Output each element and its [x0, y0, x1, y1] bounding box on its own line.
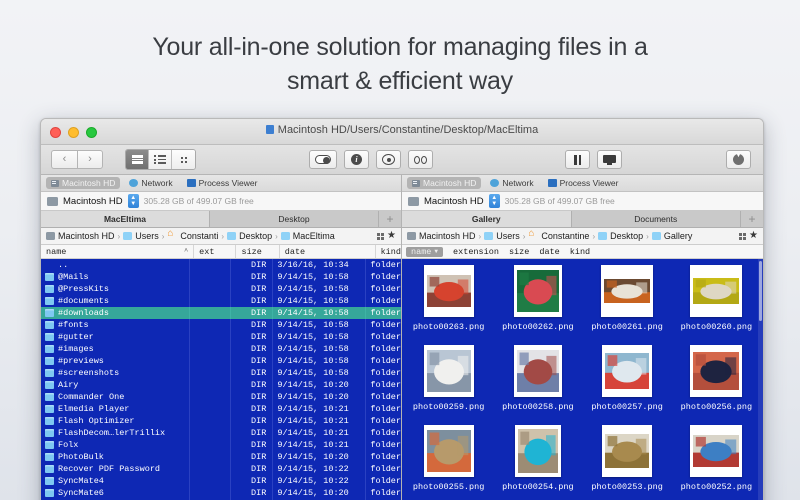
process-viewer-icon [187, 179, 196, 187]
cell-date: 9/14/15, 10:21 [273, 439, 366, 451]
cell-name: .. [41, 259, 190, 271]
file-name: Elmedia Player [58, 404, 129, 414]
column-header-extension[interactable]: extension [453, 247, 499, 257]
folder-icon [281, 232, 290, 240]
cell-kind: folder [366, 295, 401, 307]
cell-ext [190, 307, 231, 319]
file-name: #downloads [58, 308, 109, 318]
column-header-name-label: name [46, 247, 66, 257]
cell-kind: folder [366, 427, 401, 439]
sort-arrow-icon: ^ [184, 248, 188, 256]
downloads-button[interactable] [726, 150, 751, 169]
folder-icon [484, 232, 493, 240]
right-crumb-2[interactable]: Constantine [528, 231, 589, 241]
right-source-network[interactable]: Network [485, 177, 538, 189]
cell-date: 9/14/15, 10:22 [273, 463, 366, 475]
cell-size: DIR [231, 487, 274, 499]
file-name: Flash Optimizer [58, 416, 135, 426]
screen-icon [603, 155, 616, 165]
file-name: #previews [58, 356, 104, 366]
left-volume-stepper[interactable]: ▲▼ [128, 194, 139, 208]
folder-icon [45, 453, 54, 461]
cell-size: DIR [231, 415, 274, 427]
left-tab-desktop[interactable]: Desktop [210, 211, 379, 227]
folder-icon [45, 429, 54, 437]
cell-ext [190, 271, 231, 283]
cell-name: @PressKits [41, 283, 190, 295]
cell-date: 9/14/15, 10:58 [273, 319, 366, 331]
view-options-icon[interactable] [739, 233, 746, 240]
cell-kind: folder [366, 391, 401, 403]
cell-name: Elmedia Player [41, 403, 190, 415]
table-row[interactable]: AiryDIR9/14/15, 10:20folder [41, 379, 401, 391]
table-row[interactable]: #imagesDIR9/14/15, 10:58folder [41, 343, 401, 355]
left-crumb-1[interactable]: Users [123, 231, 159, 241]
right-crumb-0[interactable]: Macintosh HD [407, 231, 476, 241]
path-separator: › [118, 232, 121, 241]
pause-icon [574, 155, 581, 165]
cell-ext [190, 475, 231, 487]
cell-name: SyncMate6 [41, 487, 190, 499]
page-headline: Your all-in-one solution for managing fi… [0, 30, 800, 98]
brief-view-button[interactable] [126, 150, 149, 169]
photo-thumbnail [427, 350, 471, 392]
left-tabs-row: MacEltima Desktop + [41, 211, 401, 228]
cell-name: #fonts [41, 319, 190, 331]
file-name: #images [58, 344, 94, 354]
cell-kind: folder [366, 439, 401, 451]
favorites-star-icon[interactable]: ★ [749, 231, 758, 241]
gallery-scrollbar-thumb[interactable] [759, 261, 762, 321]
folder-icon [45, 465, 54, 473]
cell-name: Commander One [41, 391, 190, 403]
cell-ext [190, 463, 231, 475]
cell-date: 9/14/15, 10:20 [273, 487, 366, 499]
toggle-icon [315, 155, 331, 164]
right-tool-buttons [565, 150, 622, 169]
photo-filename: photo00255.png [413, 482, 484, 492]
table-row[interactable]: Elmedia PlayerDIR9/14/15, 10:21folder [41, 403, 401, 415]
right-volume-stepper[interactable]: ▲▼ [489, 194, 500, 208]
table-row[interactable]: Flash OptimizerDIR9/14/15, 10:21folder [41, 415, 401, 427]
photo-thumbnail [518, 429, 558, 473]
cell-kind: folder [366, 271, 401, 283]
path-separator: › [275, 232, 278, 241]
left-source-process-viewer[interactable]: Process Viewer [182, 177, 263, 189]
folder-icon [45, 297, 54, 305]
cell-kind: folder [366, 403, 401, 415]
window-title-icon [266, 125, 274, 134]
table-row[interactable]: #previewsDIR9/14/15, 10:58folder [41, 355, 401, 367]
right-crumb-3[interactable]: Desktop [598, 231, 643, 241]
list-item[interactable]: photo00254.png [493, 425, 582, 500]
cell-kind: folder [366, 415, 401, 427]
photo-filename: photo00262.png [502, 322, 573, 332]
list-item[interactable]: photo00261.png [583, 265, 672, 345]
view-mode-segmented-control [125, 149, 196, 170]
folder-icon [227, 232, 236, 240]
table-row[interactable]: SyncMate4DIR9/14/15, 10:22folder [41, 475, 401, 487]
left-crumb-3[interactable]: Desktop [227, 231, 272, 241]
cell-size: DIR [231, 367, 274, 379]
thumbnail-frame[interactable] [602, 345, 652, 397]
right-source-label-0: Macintosh HD [423, 178, 476, 188]
column-header-name[interactable]: name ^ [41, 245, 194, 258]
right-source-label-1: Network [502, 178, 533, 188]
table-row[interactable]: Recover PDF PasswordDIR9/14/15, 10:22fol… [41, 463, 401, 475]
file-name: SyncMate6 [58, 488, 104, 498]
thumbnail-frame[interactable] [424, 425, 474, 477]
right-volume-name: Macintosh HD [424, 196, 484, 207]
photo-filename: photo00252.png [681, 482, 752, 492]
path-separator: › [479, 232, 482, 241]
right-gallery-grid[interactable]: photo00263.pngphoto00262.pngphoto00261.p… [402, 259, 763, 500]
chevron-down-icon: ▼ [434, 248, 438, 255]
cell-ext [190, 451, 231, 463]
cell-size: DIR [231, 295, 274, 307]
table-row[interactable]: FlashDecom…lerTrillixDIR9/14/15, 10:21fo… [41, 427, 401, 439]
file-name: @PressKits [58, 284, 109, 294]
thumbnail-frame[interactable] [601, 265, 653, 317]
thumbnail-frame[interactable] [690, 425, 742, 477]
cell-ext [190, 367, 231, 379]
photo-filename: photo00256.png [681, 402, 752, 412]
table-row[interactable]: ..DIR3/16/16, 10:34folder [41, 259, 401, 271]
info-button[interactable]: i [344, 150, 369, 169]
folder-icon [123, 232, 132, 240]
gallery-scrollbar[interactable] [758, 259, 763, 500]
folder-icon [45, 273, 54, 281]
cell-name: #images [41, 343, 190, 355]
photo-thumbnail [693, 435, 739, 467]
cell-ext [190, 283, 231, 295]
folder-icon [45, 381, 54, 389]
cell-name: Airy [41, 379, 190, 391]
photo-thumbnail [693, 352, 739, 390]
table-row[interactable]: @MailsDIR9/14/15, 10:58folder [41, 271, 401, 283]
list-item[interactable]: photo00257.png [583, 345, 672, 425]
column-header-ext[interactable]: ext [194, 245, 236, 258]
cell-kind: folder [366, 451, 401, 463]
photo-filename: photo00258.png [502, 402, 573, 412]
folder-icon [45, 393, 54, 401]
photo-filename: photo00260.png [681, 322, 752, 332]
cell-size: DIR [231, 271, 274, 283]
cell-kind: folder [366, 475, 401, 487]
thumbnail-frame[interactable] [690, 265, 742, 317]
file-name: Recover PDF Password [58, 464, 160, 474]
right-source-process-viewer[interactable]: Process Viewer [543, 177, 624, 189]
folder-icon [45, 345, 54, 353]
left-crumb-0[interactable]: Macintosh HD [46, 231, 115, 241]
cell-kind: folder [366, 307, 401, 319]
cell-kind: folder [366, 283, 401, 295]
folder-icon [45, 369, 54, 377]
cell-size: DIR [231, 379, 274, 391]
info-icon: i [351, 154, 362, 165]
folder-icon [45, 333, 54, 341]
cell-date: 9/14/15, 10:20 [273, 391, 366, 403]
photo-thumbnail [427, 275, 471, 307]
table-row[interactable]: PhotoBulkDIR9/14/15, 10:20folder [41, 451, 401, 463]
hard-disk-icon [407, 232, 416, 240]
right-volume-free-space: 305.28 GB of 499.07 GB free [505, 196, 615, 206]
table-row[interactable]: #downloadsDIR9/14/15, 10:58folder [41, 307, 401, 319]
list-item[interactable]: photo00252.png [672, 425, 761, 500]
cell-kind: folder [366, 343, 401, 355]
column-header-kind[interactable]: kind [570, 247, 590, 257]
file-name: #screenshots [58, 368, 119, 378]
photo-thumbnail [427, 430, 471, 472]
cell-date: 9/14/15, 10:58 [273, 343, 366, 355]
cell-size: DIR [231, 283, 274, 295]
path-separator: › [592, 232, 595, 241]
cell-ext [190, 259, 231, 271]
window-title: Macintosh HD/Users/Constantine/Desktop/M… [278, 124, 538, 136]
left-volume-free-space: 305.28 GB of 499.07 GB free [144, 196, 254, 206]
file-name: Airy [58, 380, 78, 390]
cell-date: 9/14/15, 10:58 [273, 295, 366, 307]
left-crumb-label-0: Macintosh HD [58, 231, 115, 241]
view-options-icon[interactable] [377, 233, 384, 240]
folder-icon [45, 309, 54, 317]
path-separator: › [221, 232, 224, 241]
cell-ext [190, 403, 231, 415]
quick-look-button[interactable] [376, 150, 401, 169]
cell-date: 9/14/15, 10:21 [273, 403, 366, 415]
folder-icon [45, 441, 54, 449]
file-name: #gutter [58, 332, 94, 342]
cell-size: DIR [231, 307, 274, 319]
cell-ext [190, 391, 231, 403]
cell-name: #downloads [41, 307, 190, 319]
folder-icon [45, 489, 54, 497]
cell-kind: folder [366, 355, 401, 367]
left-source-label-1: Network [141, 178, 172, 188]
cell-size: DIR [231, 259, 274, 271]
cell-kind: folder [366, 259, 401, 271]
list-lines-icon [132, 155, 143, 164]
full-view-button[interactable] [149, 150, 172, 169]
column-header-kind[interactable]: kind [376, 245, 401, 258]
left-source-macintosh-hd[interactable]: Macintosh HD [46, 177, 120, 189]
cell-kind: folder [366, 331, 401, 343]
forward-button[interactable]: › [77, 150, 103, 169]
cell-kind: folder [366, 319, 401, 331]
network-icon [129, 179, 138, 187]
right-crumb-label-3: Desktop [610, 231, 643, 241]
list-item[interactable]: photo00260.png [672, 265, 761, 345]
cell-kind: folder [366, 367, 401, 379]
list-item[interactable]: photo00256.png [672, 345, 761, 425]
left-crumb-2[interactable]: Constanti [167, 231, 218, 241]
favorites-star-icon[interactable]: ★ [387, 231, 396, 241]
file-name: .. [58, 260, 68, 270]
photo-thumbnail [517, 270, 559, 312]
cell-size: DIR [231, 463, 274, 475]
cell-size: DIR [231, 427, 274, 439]
table-row[interactable]: FolxDIR9/14/15, 10:21folder [41, 439, 401, 451]
cell-name: PhotoBulk [41, 451, 190, 463]
cell-kind: folder [366, 487, 401, 499]
right-crumb-4[interactable]: Gallery [652, 231, 693, 241]
column-header-date[interactable]: date [539, 247, 559, 257]
photo-filename: photo00259.png [413, 402, 484, 412]
cell-size: DIR [231, 331, 274, 343]
hard-disk-icon [51, 180, 59, 187]
cell-name: Flash Optimizer [41, 415, 190, 427]
photo-thumbnail [605, 353, 649, 389]
cell-kind: folder [366, 463, 401, 475]
hard-disk-icon [46, 232, 55, 240]
sort-chip-label: name [411, 247, 431, 257]
cell-name: FlashDecom…lerTrillix [41, 427, 190, 439]
thumbnail-frame[interactable] [515, 425, 561, 477]
volume-disk-icon [47, 197, 58, 206]
cell-name: SyncMate4 [41, 475, 190, 487]
left-tab-maceltima[interactable]: MacEltima [41, 211, 210, 227]
photo-thumbnail [693, 278, 739, 304]
home-icon [167, 232, 177, 240]
table-row[interactable]: SyncMate6DIR9/14/15, 10:20folder [41, 487, 401, 499]
file-name: @Mails [58, 272, 89, 282]
cell-name: Recover PDF Password [41, 463, 190, 475]
cell-ext [190, 379, 231, 391]
right-tab-documents[interactable]: Documents [572, 211, 742, 227]
cell-date: 9/14/15, 10:20 [273, 451, 366, 463]
list-item[interactable]: photo00262.png [493, 265, 582, 345]
list-item[interactable]: photo00253.png [583, 425, 672, 500]
sort-chip-name[interactable]: name▼ [406, 247, 443, 257]
right-tab-gallery[interactable]: Gallery [402, 211, 572, 227]
right-crumb-label-0: Macintosh HD [419, 231, 476, 241]
cell-date: 9/14/15, 10:22 [273, 475, 366, 487]
thumbnail-frame[interactable] [514, 345, 562, 397]
navigation-buttons: ‹ › [51, 150, 103, 169]
folder-icon [45, 405, 54, 413]
left-add-tab-button[interactable]: + [379, 211, 401, 227]
find-button[interactable] [408, 150, 433, 169]
left-crumb-label-1: Users [135, 231, 159, 241]
photo-thumbnail [604, 279, 650, 303]
remote-connection-button[interactable] [597, 150, 622, 169]
folder-icon [598, 232, 607, 240]
thumbnail-frame[interactable] [424, 345, 474, 397]
cell-ext [190, 487, 231, 499]
left-source-bar: Macintosh HD Network Process Viewer [41, 175, 401, 192]
cell-size: DIR [231, 403, 274, 415]
right-crumb-label-4: Gallery [664, 231, 693, 241]
cell-date: 9/14/15, 10:21 [273, 415, 366, 427]
file-name: FlashDecom…lerTrillix [58, 428, 165, 438]
right-tabs-row: Gallery Documents + [402, 211, 763, 228]
table-row[interactable]: #documentsDIR9/14/15, 10:58folder [41, 295, 401, 307]
table-row[interactable]: @PressKitsDIR9/14/15, 10:58folder [41, 283, 401, 295]
process-viewer-icon [548, 179, 557, 187]
volume-disk-icon [408, 197, 419, 206]
headline-line-1: Your all-in-one solution for managing fi… [0, 30, 800, 64]
cell-size: DIR [231, 451, 274, 463]
cell-name: Folx [41, 439, 190, 451]
right-source-bar: Macintosh HD Network Process Viewer [402, 175, 763, 192]
thumbnail-frame[interactable] [514, 265, 562, 317]
path-separator: › [523, 232, 526, 241]
home-icon [528, 232, 538, 240]
left-source-network[interactable]: Network [124, 177, 177, 189]
cell-date: 9/14/15, 10:58 [273, 355, 366, 367]
cell-size: DIR [231, 475, 274, 487]
file-name: SyncMate4 [58, 476, 104, 486]
detail-list-icon [154, 155, 166, 164]
back-button[interactable]: ‹ [51, 150, 77, 169]
right-add-tab-button[interactable]: + [741, 211, 763, 227]
file-name: Commander One [58, 392, 124, 402]
cell-date: 9/14/15, 10:58 [273, 283, 366, 295]
cell-ext [190, 415, 231, 427]
queue-button[interactable] [565, 150, 590, 169]
right-source-macintosh-hd[interactable]: Macintosh HD [407, 177, 481, 189]
file-name: #documents [58, 296, 109, 306]
file-name: Folx [58, 440, 78, 450]
right-volume-bar: Macintosh HD ▲▼ 305.28 GB of 499.07 GB f… [402, 192, 763, 211]
center-tool-buttons: i [309, 150, 433, 169]
table-row[interactable]: #gutterDIR9/14/15, 10:58folder [41, 331, 401, 343]
file-name: #fonts [58, 320, 89, 330]
left-file-list[interactable]: ..DIR3/16/16, 10:34folder@MailsDIR9/14/1… [41, 259, 401, 500]
cell-name: #documents [41, 295, 190, 307]
path-separator: › [646, 232, 649, 241]
right-crumb-1[interactable]: Users [484, 231, 520, 241]
table-row[interactable]: Commander OneDIR9/14/15, 10:20folder [41, 391, 401, 403]
column-header-size[interactable]: size [509, 247, 529, 257]
folder-icon [45, 321, 54, 329]
photo-thumbnail [517, 350, 559, 392]
cell-date: 9/14/15, 10:58 [273, 367, 366, 379]
cell-size: DIR [231, 319, 274, 331]
list-item[interactable]: photo00259.png [404, 345, 493, 425]
column-header-size[interactable]: size [236, 245, 279, 258]
download-icon [733, 154, 744, 165]
column-header-date[interactable]: date [280, 245, 376, 258]
thumbnail-frame[interactable] [602, 425, 652, 477]
folder-icon [45, 477, 54, 485]
left-crumb-label-3: Desktop [239, 231, 272, 241]
list-item[interactable]: photo00263.png [404, 265, 493, 345]
right-crumb-label-1: Users [496, 231, 520, 241]
dual-panel-toggle-button[interactable] [309, 150, 337, 169]
cell-date: 9/14/15, 10:21 [273, 427, 366, 439]
cell-ext [190, 427, 231, 439]
list-item[interactable]: photo00258.png [493, 345, 582, 425]
table-row[interactable]: #screenshotsDIR9/14/15, 10:58folder [41, 367, 401, 379]
thumbnail-frame[interactable] [424, 265, 474, 317]
app-window: Macintosh HD/Users/Constantine/Desktop/M… [40, 118, 764, 500]
parent-folder-icon [45, 261, 54, 269]
thumbnail-frame[interactable] [690, 345, 742, 397]
cell-ext [190, 355, 231, 367]
thumbnails-view-button[interactable] [172, 150, 195, 169]
file-name: PhotoBulk [58, 452, 104, 462]
list-item[interactable]: photo00255.png [404, 425, 493, 500]
table-row[interactable]: #fontsDIR9/14/15, 10:58folder [41, 319, 401, 331]
left-crumb-4[interactable]: MacEltima [281, 231, 335, 241]
left-volume-bar: Macintosh HD ▲▼ 305.28 GB of 499.07 GB f… [41, 192, 401, 211]
left-source-label-0: Macintosh HD [62, 178, 115, 188]
eye-icon [382, 154, 395, 165]
right-crumb-label-2: Constantine [541, 231, 589, 241]
left-panel: Macintosh HD Network Process Viewer Maci… [41, 175, 402, 500]
cell-ext [190, 331, 231, 343]
